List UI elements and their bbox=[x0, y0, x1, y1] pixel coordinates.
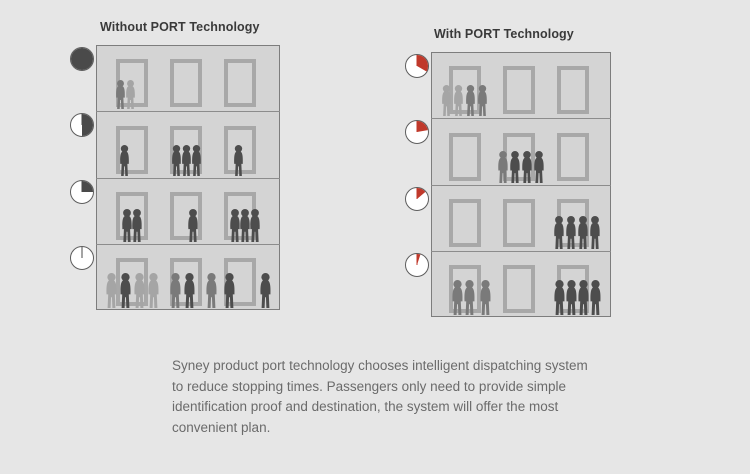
elevator-door bbox=[503, 199, 535, 247]
pie-indicator-red-tiny bbox=[405, 253, 429, 277]
elevator-door bbox=[449, 133, 481, 181]
pie-indicator-red-large bbox=[405, 54, 429, 78]
person-figure bbox=[204, 272, 219, 474]
person-figure bbox=[462, 279, 477, 474]
diagram-stage: Without PORT Technology With PORT Techno… bbox=[0, 0, 750, 474]
elevator-door bbox=[449, 199, 481, 247]
pie-indicator-quarter bbox=[70, 180, 94, 204]
panel-title-right: With PORT Technology bbox=[434, 27, 574, 41]
person-figure bbox=[222, 272, 237, 474]
elevator-door bbox=[557, 133, 589, 181]
person-figure bbox=[132, 272, 147, 474]
person-figure bbox=[146, 272, 161, 474]
elevator-door bbox=[170, 59, 202, 107]
person-figure bbox=[478, 279, 493, 474]
person-figure bbox=[118, 272, 133, 474]
person-figure bbox=[168, 272, 183, 474]
elevator-door bbox=[503, 265, 535, 313]
panel-title-left: Without PORT Technology bbox=[100, 20, 260, 34]
person-figure bbox=[182, 272, 197, 474]
pie-indicator-empty bbox=[70, 246, 94, 270]
elevator-door bbox=[224, 59, 256, 107]
pie-indicator-half bbox=[70, 113, 94, 137]
elevator-door bbox=[503, 66, 535, 114]
pie-indicator-full bbox=[70, 47, 94, 71]
pie-indicator-red-small bbox=[405, 187, 429, 211]
person-figure bbox=[104, 272, 119, 474]
elevator-door bbox=[557, 66, 589, 114]
pie-indicator-red-medium bbox=[405, 120, 429, 144]
person-figure bbox=[588, 279, 603, 474]
person-figure bbox=[258, 272, 273, 474]
